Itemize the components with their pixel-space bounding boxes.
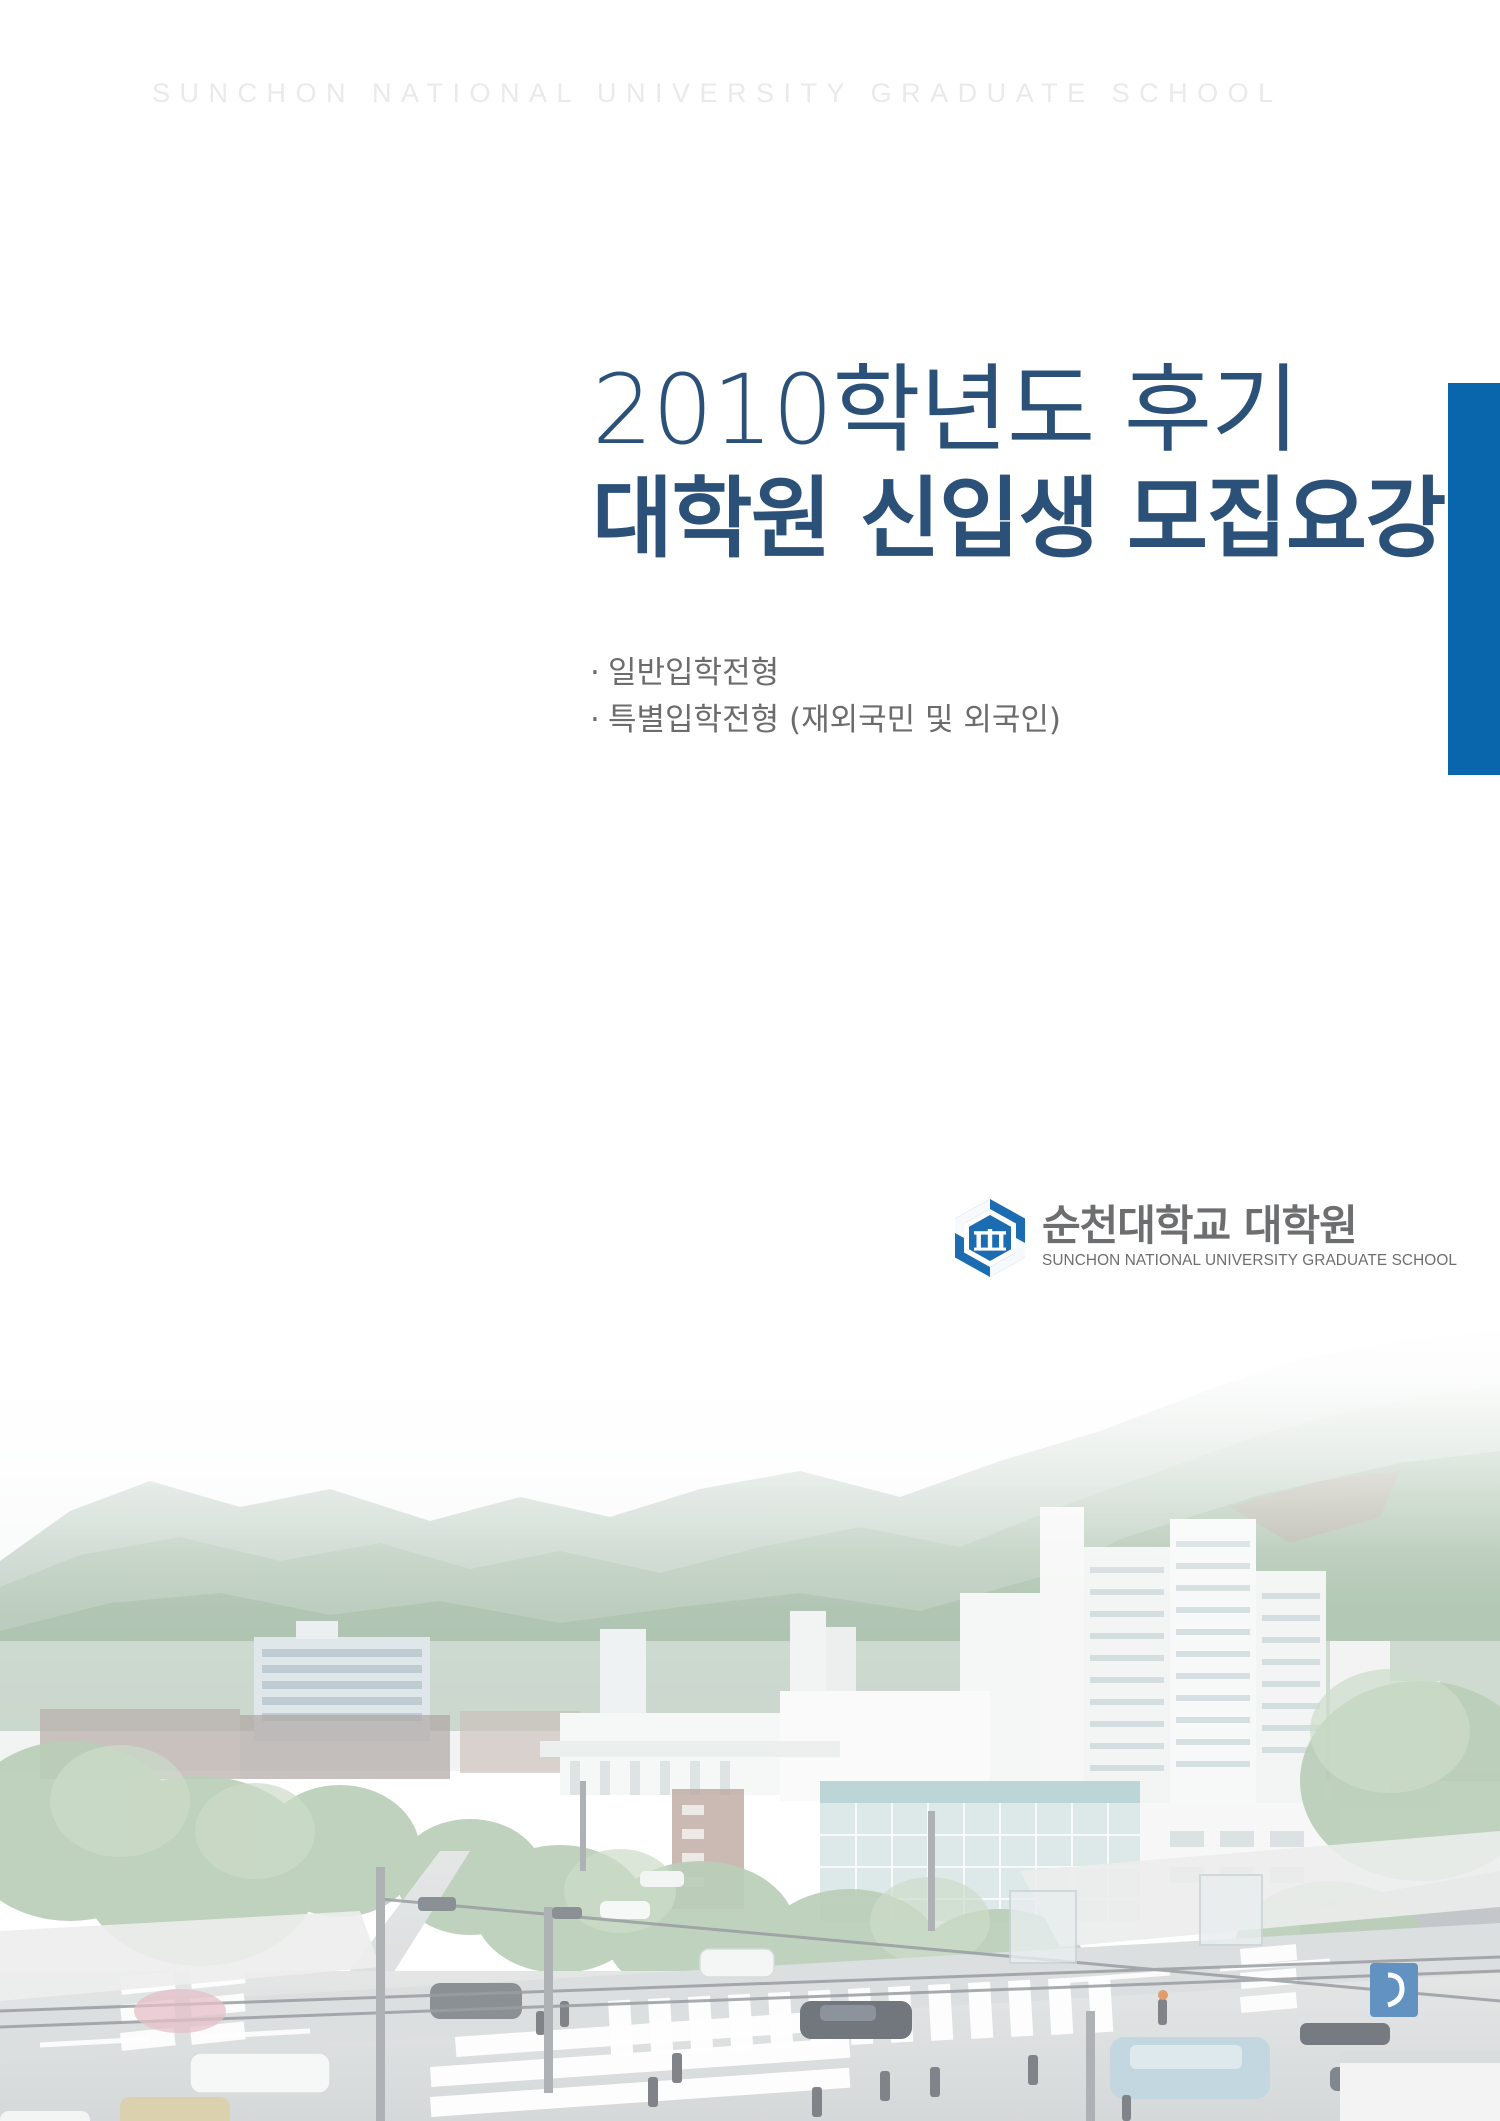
logo-korean-name: 순천대학교 대학원 [1042, 1205, 1357, 1247]
title-block: 2010학년도 후기 대학원 신입생 모집요강 [592, 360, 1432, 570]
page-eyebrow-running-head: SUNCHON NATIONAL UNIVERSITY GRADUATE SCH… [152, 78, 1283, 109]
admission-type-list: ·일반입학전형 ·특별입학전형 (재외국민 및 외국인) [590, 650, 1061, 744]
campus-aerial-photo [0, 1311, 1500, 2121]
campus-photo-artwork [0, 1311, 1500, 2121]
list-item: ·일반입학전형 [590, 650, 1061, 697]
brochure-cover-page: SUNCHON NATIONAL UNIVERSITY GRADUATE SCH… [0, 0, 1500, 2121]
list-item-label: 일반입학전형 [608, 655, 779, 691]
logo-english-name: SUNCHON NATIONAL UNIVERSITY GRADUATE SCH… [1042, 1253, 1457, 1269]
bullet-dot-icon: · [590, 697, 608, 744]
bullet-dot-icon: · [590, 650, 608, 697]
accent-bar-right [1448, 383, 1500, 775]
university-logo-lockup: 순천대학교 대학원 SUNCHON NATIONAL UNIVERSITY GR… [952, 1198, 1463, 1278]
list-item-label: 특별입학전형 (재외국민 및 외국인) [608, 702, 1061, 738]
page-title-line-2: 대학원 신입생 모집요강 [592, 468, 1432, 570]
sunchon-hexagon-emblem-icon [952, 1198, 1028, 1278]
logo-wordmark: 순천대학교 대학원 SUNCHON NATIONAL UNIVERSITY GR… [1042, 1205, 1463, 1271]
list-item: ·특별입학전형 (재외국민 및 외국인) [590, 697, 1061, 744]
page-title-line-1: 2010학년도 후기 [592, 360, 1432, 462]
